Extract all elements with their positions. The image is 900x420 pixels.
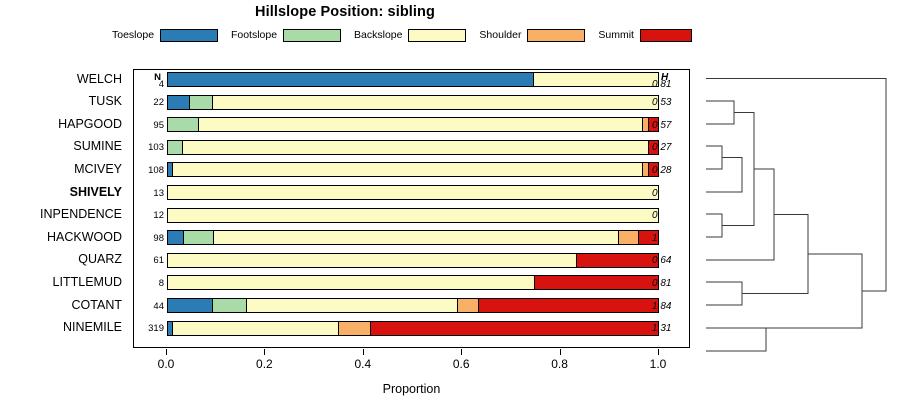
legend-item-label: Backslope [354,30,402,41]
x-axis-tick [363,349,364,355]
n-value: 22 [153,97,164,108]
legend-swatch-toeslope [160,29,218,42]
y-axis-label-cotant: COTANT [72,298,122,312]
legend-item-toeslope[interactable]: Toeslope [112,29,218,42]
dendrogram [690,62,900,354]
legend-swatch-shoulder [527,29,585,42]
legend: ToeslopeFootslopeBackslopeShoulderSummit [112,26,692,44]
bar-segment-footslope[interactable] [168,118,198,131]
n-value: 103 [148,142,164,153]
bar-segment-backslope[interactable] [198,118,641,131]
table-row[interactable] [167,72,659,87]
bar-segment-toeslope[interactable] [168,231,183,244]
x-axis-title: Proportion [133,382,690,396]
table-row[interactable] [167,321,659,336]
bar-segment-summit[interactable] [370,322,658,335]
legend-swatch-backslope [408,29,466,42]
bar-segment-footslope[interactable] [168,141,182,154]
bar-segment-backslope[interactable] [212,96,658,109]
x-axis-tick-label: 0.6 [453,357,470,371]
legend-item-label: Toeslope [112,30,154,41]
legend-item-label: Footslope [231,30,277,41]
x-axis-tick-label: 0.0 [158,357,175,371]
y-axis-label-ninemile: NINEMILE [63,320,122,334]
bar-segment-backslope[interactable] [246,299,457,312]
table-row[interactable] [167,117,659,132]
n-column: N 4229510310813129861844319 [134,70,166,347]
legend-swatch-footslope [283,29,341,42]
table-row[interactable] [167,140,659,155]
page-title: Hillslope Position: sibling [0,4,690,20]
n-value: 4 [159,79,164,90]
bar-segment-summit[interactable] [478,299,658,312]
bar-segment-summit[interactable] [576,254,658,267]
h-value: 0.27 [652,142,671,153]
h-value: 1.84 [652,301,671,312]
y-axis-label-littlemud: LITTLEMUD [53,275,122,289]
h-value: 0.57 [652,120,671,131]
n-value: 44 [153,301,164,312]
table-row[interactable] [167,185,659,200]
h-value: 0.81 [652,79,671,90]
h-column: H 0.810.530.570.270.280010.640.811.841.3… [649,70,689,347]
y-axis-label-sumine: SUMINE [73,139,122,153]
bar-segment-backslope[interactable] [168,186,658,199]
table-row[interactable] [167,275,659,290]
h-value: 0.81 [652,278,671,289]
n-value: 12 [153,210,164,221]
h-value: 0.53 [652,97,671,108]
h-value: 1 [652,233,658,244]
bar-segment-footslope[interactable] [189,96,212,109]
bar-segment-toeslope[interactable] [168,299,212,312]
n-value: 8 [159,278,164,289]
n-value: 95 [153,120,164,131]
legend-item-backslope[interactable]: Backslope [354,29,466,42]
x-axis-tick [264,349,265,355]
bar-segment-backslope[interactable] [213,231,618,244]
h-value: 0 [652,210,658,221]
bar-segment-footslope[interactable] [212,299,246,312]
x-axis-tick-label: 1.0 [650,357,667,371]
n-value: 98 [153,233,164,244]
chart-root: Hillslope Position: sibling ToeslopeFoot… [0,0,900,420]
y-axis-labels: WELCHTUSKHAPGOODSUMINEMCIVEYSHIVELYINPEN… [0,69,128,348]
h-value: 1.31 [652,323,671,334]
table-row[interactable] [167,230,659,245]
n-value: 319 [148,323,164,334]
bar-segment-toeslope[interactable] [168,96,189,109]
bar-segment-backslope[interactable] [172,163,642,176]
bar-segment-backslope[interactable] [168,276,534,289]
y-axis-label-mcivey: MCIVEY [74,162,122,176]
bar-segment-shoulder[interactable] [457,299,478,312]
stacked-bars [167,70,659,347]
n-value: 61 [153,255,164,266]
bar-segment-backslope[interactable] [182,141,648,154]
n-value: 108 [148,165,164,176]
legend-item-shoulder[interactable]: Shoulder [479,29,585,42]
table-row[interactable] [167,208,659,223]
h-value: 0.28 [652,165,671,176]
legend-item-summit[interactable]: Summit [598,29,692,42]
y-axis-label-hackwood: HACKWOOD [47,230,122,244]
dendrogram-svg [690,62,900,354]
x-axis: 0.00.20.40.60.81.0 [133,349,690,379]
y-axis-label-quarz: QUARZ [78,252,122,266]
h-value: 0 [652,188,658,199]
n-value: 13 [153,188,164,199]
bar-segment-backslope[interactable] [172,322,338,335]
x-axis-tick [658,349,659,355]
y-axis-label-welch: WELCH [77,72,122,86]
y-axis-label-hapgood: HAPGOOD [58,117,122,131]
bar-segment-summit[interactable] [534,276,658,289]
h-value: 0.64 [652,255,671,266]
bar-segment-backslope[interactable] [168,254,576,267]
x-axis-tick [166,349,167,355]
legend-item-label: Summit [598,30,634,41]
bar-segment-footslope[interactable] [183,231,213,244]
y-axis-label-tusk: TUSK [89,94,122,108]
x-axis-tick-label: 0.2 [256,357,273,371]
bar-segment-backslope[interactable] [168,209,658,222]
bar-segment-backslope[interactable] [533,73,658,86]
legend-swatch-summit [640,29,692,42]
table-row[interactable] [167,253,659,268]
table-row[interactable] [167,298,659,313]
y-axis-label-shively: SHIVELY [70,185,122,199]
plot-area: N 4229510310813129861844319 H 0.810.530.… [133,69,690,348]
x-axis-tick [560,349,561,355]
bar-segment-toeslope[interactable] [168,73,533,86]
x-axis-tick-label: 0.8 [551,357,568,371]
x-axis-tick-label: 0.4 [354,357,371,371]
x-axis-tick [461,349,462,355]
legend-item-label: Shoulder [479,30,521,41]
y-axis-label-inpendence: INPENDENCE [40,207,122,221]
table-row[interactable] [167,95,659,110]
bar-segment-shoulder[interactable] [618,231,639,244]
table-row[interactable] [167,162,659,177]
bar-segment-shoulder[interactable] [338,322,370,335]
legend-item-footslope[interactable]: Footslope [231,29,341,42]
